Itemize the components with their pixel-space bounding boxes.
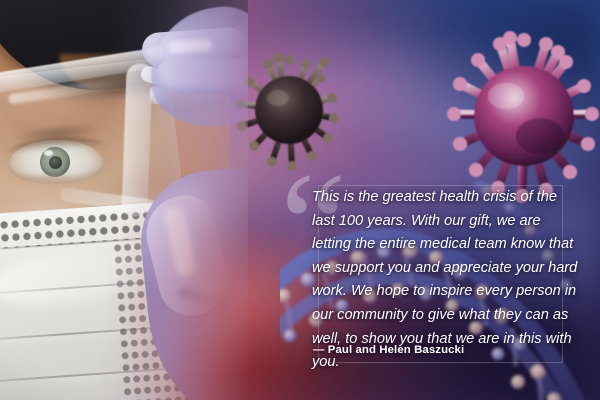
coronavirus-particle-dark	[234, 52, 344, 172]
coronavirus-particle-magenta	[448, 32, 600, 200]
healthcare-worker-photo	[0, 0, 248, 400]
quote-attribution: — Paul and Helen Baszucki	[313, 344, 464, 356]
image-canvas: “ This is the greatest health crisis of …	[0, 0, 600, 400]
